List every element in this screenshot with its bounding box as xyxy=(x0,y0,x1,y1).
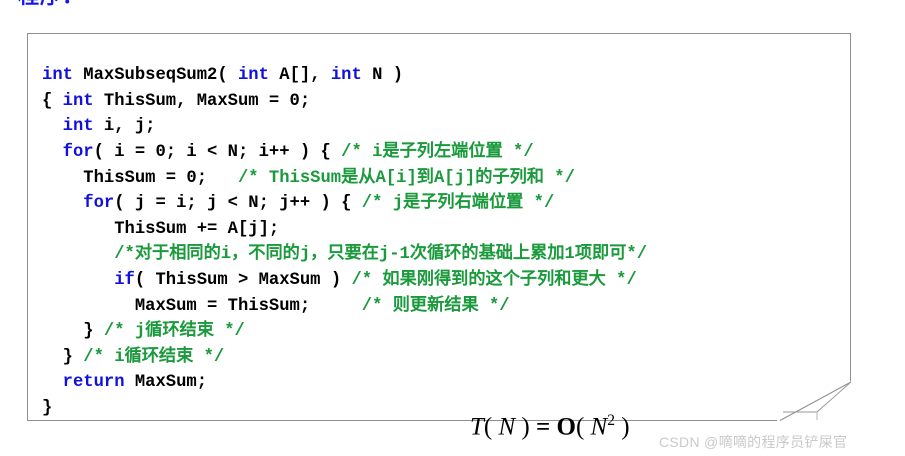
code-text: i, j; xyxy=(104,117,156,136)
code-line: ThisSum = 0; /* ThisSum是从A[i]到A[j]的子列和 *… xyxy=(42,166,647,192)
code-keyword: int xyxy=(331,66,372,85)
code-line: } /* i循环结束 */ xyxy=(42,345,647,371)
code-comment: /* 如果刚得到的这个子列和更大 */ xyxy=(351,271,636,290)
code-line: MaxSum = ThisSum; /* 则更新结果 */ xyxy=(42,294,647,320)
code-keyword: int xyxy=(238,66,279,85)
code-line: if( ThisSum > MaxSum ) /* 如果刚得到的这个子列和更大 … xyxy=(42,268,647,294)
code-comment: /* ThisSum是从A[i]到A[j]的子列和 */ xyxy=(238,169,575,188)
code-text: ThisSum, MaxSum = 0; xyxy=(104,92,310,111)
code-text: N ) xyxy=(372,66,403,85)
page-fold-corner-icon xyxy=(777,381,851,421)
code-line: for( j = i; j < N; j++ ) { /* j是子列右端位置 *… xyxy=(42,191,647,217)
code-keyword: return xyxy=(63,373,135,392)
time-complexity-formula: T( N ) = O( N2 ) xyxy=(470,412,630,441)
code-listing: int MaxSubseqSum2( int A[], int N ){ int… xyxy=(42,63,647,421)
code-text: ( j = i; j < N; j++ ) { xyxy=(114,194,362,213)
code-line: } /* j循环结束 */ xyxy=(42,319,647,345)
code-block-panel: int MaxSubseqSum2( int A[], int N ){ int… xyxy=(27,33,851,421)
code-keyword: if xyxy=(114,271,135,290)
code-text: } xyxy=(42,322,104,341)
code-text: ( i = 0; i < N; i++ ) { xyxy=(94,143,342,162)
code-line: ThisSum += A[j]; xyxy=(42,217,647,243)
code-text: MaxSubseqSum2( xyxy=(83,66,238,85)
code-text xyxy=(42,194,83,213)
code-text: ThisSum = 0; xyxy=(42,169,238,188)
code-comment: /* j循环结束 */ xyxy=(104,322,245,341)
code-text xyxy=(42,117,63,136)
code-text: } xyxy=(42,399,52,418)
code-line: return MaxSum; xyxy=(42,370,647,396)
code-comment: /* 则更新结果 */ xyxy=(362,297,510,316)
code-text xyxy=(42,271,114,290)
code-text: A[], xyxy=(279,66,331,85)
code-keyword: for xyxy=(63,143,94,162)
code-comment: /* j是子列右端位置 */ xyxy=(362,194,555,213)
code-line: { int ThisSum, MaxSum = 0; xyxy=(42,89,647,115)
code-comment: /* i循环结束 */ xyxy=(83,348,224,367)
code-comment: /*对于相同的i，不同的j，只要在j-1次循环的基础上累加1项即可*/ xyxy=(114,245,647,264)
code-text: ( ThisSum > MaxSum ) xyxy=(135,271,352,290)
code-line: int MaxSubseqSum2( int A[], int N ) xyxy=(42,63,647,89)
code-keyword: int xyxy=(63,117,104,136)
csdn-watermark: CSDN @嘀嘀的程序员铲屎官 xyxy=(659,432,847,452)
code-text: } xyxy=(42,348,83,367)
code-text xyxy=(42,245,114,264)
code-line: int i, j; xyxy=(42,114,647,140)
code-keyword: int xyxy=(63,92,104,111)
code-line: /*对于相同的i，不同的j，只要在j-1次循环的基础上累加1项即可*/ xyxy=(42,242,647,268)
code-text: MaxSum = ThisSum; xyxy=(42,297,362,316)
code-text: MaxSum; xyxy=(135,373,207,392)
code-keyword: int xyxy=(42,66,83,85)
code-keyword: for xyxy=(83,194,114,213)
code-line: for( i = 0; i < N; i++ ) { /* i是子列左端位置 *… xyxy=(42,140,647,166)
code-text xyxy=(42,143,63,162)
slide-heading-fragment: 程序： xyxy=(18,0,84,7)
code-text: ThisSum += A[j]; xyxy=(42,220,279,239)
code-comment: /* i是子列左端位置 */ xyxy=(341,143,534,162)
code-text: { xyxy=(42,92,63,111)
code-text xyxy=(42,373,63,392)
